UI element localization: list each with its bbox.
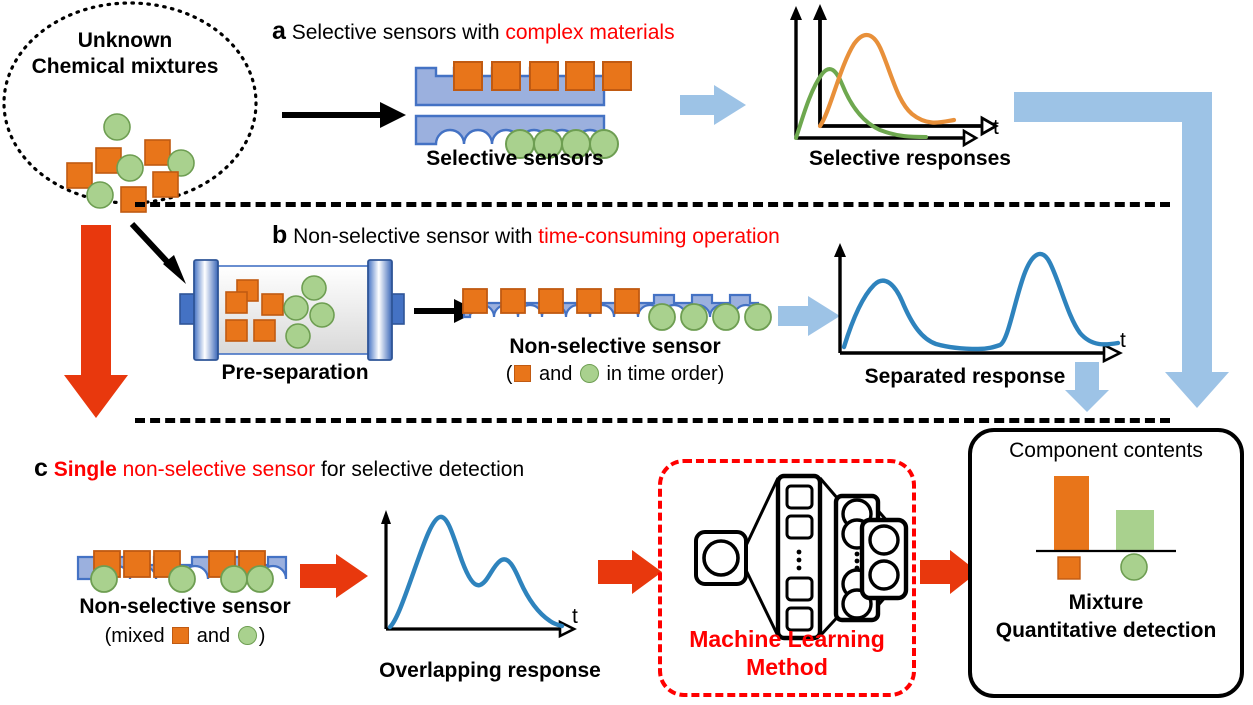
marker-square [121, 187, 146, 212]
marker-square [539, 289, 563, 313]
marker-square [153, 172, 178, 197]
marker-circle [681, 304, 707, 330]
panel-a-headline-black: Selective sensors with [292, 21, 506, 44]
panel-c-sensor-caption: Non-selective sensor [60, 596, 310, 619]
nn-ellipsis-dot [797, 566, 802, 571]
marker-circle [104, 114, 130, 140]
panel-b-separator-caption: Pre-separation [175, 362, 415, 385]
preseparation-column [180, 258, 420, 363]
marker-circle [310, 303, 334, 327]
panel-a-headline-red: complex materials [505, 21, 674, 44]
bar-orange-component [1054, 476, 1089, 551]
panel-b-axis-label-t: t [1120, 329, 1126, 352]
panel-b-nonselective-sensor [462, 285, 762, 335]
panel-a-sensor-caption: Selective sensors [370, 148, 660, 171]
chart-separated-response: t [832, 235, 1142, 360]
legend-circle-icon [1121, 554, 1147, 580]
arrow-separated-response-to-result [1065, 362, 1111, 414]
marker-square [124, 551, 150, 577]
panel-c-response-caption: Overlapping response [350, 660, 630, 683]
panel-c-headline: c Single non-selective sensor for select… [34, 455, 524, 482]
marker-square [603, 62, 631, 90]
nn-node-circle [704, 541, 738, 575]
panel-b-letter: b [272, 221, 287, 249]
panel-b-sensor-caption: Non-selective sensor [455, 336, 775, 359]
nn-node-square [787, 516, 812, 538]
marker-circle [745, 304, 771, 330]
marker-square [530, 62, 558, 90]
panel-c-subcaption-mid: and [191, 625, 235, 647]
panel-a-headline: a Selective sensors with complex materia… [272, 18, 675, 45]
arrow-selective-sensor-to-response [680, 85, 750, 129]
nn-ellipsis-dot [797, 558, 802, 563]
legend-circle-icon [238, 626, 257, 645]
legend-square-icon [514, 365, 531, 382]
marker-square [463, 289, 487, 313]
bar-green-component [1116, 510, 1154, 551]
panel-c-subcaption-pre: (mixed [105, 625, 171, 647]
marker-square [615, 289, 639, 313]
panel-c-subcaption-post: ) [259, 625, 266, 647]
arrow-source-to-panel-c [62, 225, 132, 420]
chart-selective-responses: t [786, 4, 1016, 149]
panel-b-subcaption-mid: and [533, 363, 577, 385]
nn-node-circle [870, 561, 898, 589]
marker-square [492, 62, 520, 90]
source-label-line1: Unknown [0, 30, 250, 53]
marker-circle [117, 155, 143, 181]
nn-ellipsis-dot [797, 550, 802, 555]
divider-a-b [135, 202, 1170, 207]
marker-square [262, 294, 283, 315]
panel-c-headline-black: for selective detection [315, 458, 524, 481]
panel-a-letter: a [272, 17, 286, 45]
marker-circle [713, 304, 739, 330]
arrow-source-to-selective-sensor [280, 95, 410, 135]
nn-ellipsis-dot [855, 552, 860, 557]
marker-square [145, 140, 170, 165]
marker-circle [87, 182, 113, 208]
column-cap-left [194, 260, 218, 360]
legend-square-icon [172, 627, 189, 644]
legend-square-icon [1058, 557, 1080, 579]
marker-circle [169, 566, 195, 592]
marker-circle [649, 304, 675, 330]
marker-square [67, 163, 92, 188]
nn-node-circle [870, 526, 898, 554]
marker-circle [286, 324, 310, 348]
marker-circle [91, 566, 117, 592]
result-caption-line1: Mixture [968, 592, 1244, 615]
marker-circle [284, 296, 308, 320]
result-title: Component contents [968, 440, 1244, 463]
legend-circle-icon [580, 364, 599, 383]
panel-b-sensor-subcaption: ( and in time order) [455, 364, 775, 386]
panel-b-subcaption-pre: ( [506, 363, 513, 385]
column-cap-right [368, 260, 392, 360]
nn-node-square [787, 486, 812, 508]
panel-c-sensor-subcaption: (mixed and ) [60, 626, 310, 648]
marker-square [454, 62, 482, 90]
marker-circle [221, 566, 247, 592]
marker-circle [247, 566, 273, 592]
ml-label-line2: Method [658, 655, 916, 680]
marker-square [226, 320, 247, 341]
marker-circle [302, 276, 326, 300]
panel-c-axis-label-t: t [572, 605, 578, 628]
divider-b-c [135, 418, 1170, 423]
marker-square [566, 62, 594, 90]
ml-label-line1: Machine Learning [658, 627, 916, 652]
panel-c-headline-red-bold: Single [54, 458, 117, 481]
source-label-line2: Chemical mixtures [0, 56, 250, 79]
panel-c-nonselective-sensor [76, 545, 291, 595]
marker-square [577, 289, 601, 313]
panel-b-headline: b Non-selective sensor with time-consumi… [272, 222, 780, 249]
marker-square [226, 292, 247, 313]
marker-square [254, 320, 275, 341]
nn-node-square [787, 578, 812, 600]
marker-square [501, 289, 525, 313]
panel-b-subcaption-post: in time order) [601, 363, 724, 385]
result-caption-line2: Quantitative detection [968, 620, 1244, 643]
panel-c-headline-red: non-selective sensor [117, 458, 315, 481]
panel-b-headline-red: time-consuming operation [538, 225, 780, 248]
neural-network-icon [688, 470, 896, 642]
panel-c-letter: c [34, 454, 48, 482]
nn-ellipsis-dot [855, 559, 860, 564]
panel-a-axis-label-t: t [993, 116, 999, 139]
arrow-response-to-ml [598, 550, 664, 596]
arrow-sensor-to-overlapping-response [300, 554, 370, 600]
panel-b-headline-black: Non-selective sensor with [293, 225, 538, 248]
chart-component-contents [1020, 472, 1200, 572]
chart-overlapping-response: t [378, 505, 608, 640]
selective-sensors-illustration [398, 48, 628, 148]
source-mixture-group: Unknown Chemical mixtures [0, 0, 270, 215]
